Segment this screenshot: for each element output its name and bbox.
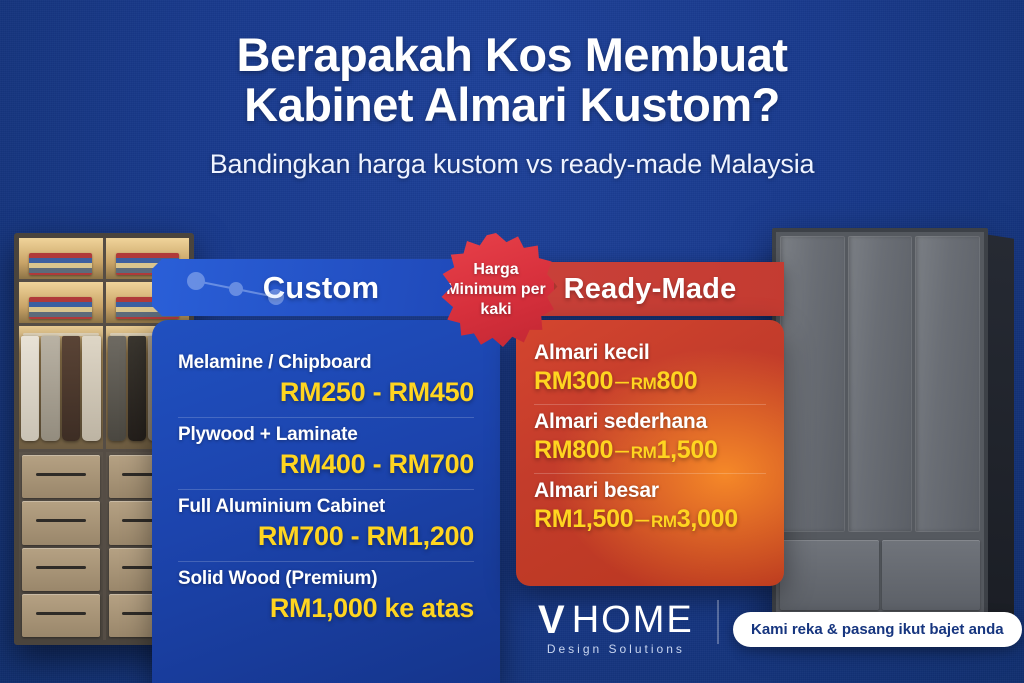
ready-made-item-label: Almari kecil <box>534 341 766 365</box>
wardrobe-bottom-drawers <box>776 536 984 614</box>
price-from: RM800 <box>534 436 613 464</box>
price-to: 800 <box>657 367 698 395</box>
price-dash: – <box>633 505 651 533</box>
network-nodes-icon <box>180 271 300 305</box>
page-subtitle: Bandingkan harga kustom vs ready-made Ma… <box>0 149 1024 180</box>
custom-item-price: RM1,000 ke atas <box>178 593 474 624</box>
ready-made-item-price: RM1,500–RM3,000 <box>534 505 766 534</box>
custom-item-price: RM250 - RM450 <box>178 377 474 408</box>
custom-item-price: RM400 - RM700 <box>178 449 474 480</box>
custom-price-panel: Melamine / Chipboard RM250 - RM450 Plywo… <box>152 320 500 683</box>
wardrobe-shelf <box>19 238 103 282</box>
price-currency: RM <box>631 374 657 393</box>
ready-made-price-row: Almari sederhana RM800–RM1,500 <box>534 405 766 474</box>
ready-made-wardrobe-photo <box>772 228 988 618</box>
header: Berapakah Kos Membuat Kabinet Almari Kus… <box>0 30 1024 180</box>
price-to: 3,000 <box>677 505 738 533</box>
wardrobe-side-panel <box>984 234 1014 623</box>
custom-item-label: Plywood + Laminate <box>178 424 474 446</box>
price-dash: – <box>613 367 631 395</box>
price-currency: RM <box>651 512 677 531</box>
wardrobe-front <box>772 228 988 618</box>
wardrobe-drawer <box>882 540 981 610</box>
price-from: RM1,500 <box>534 505 633 533</box>
custom-price-row: Melamine / Chipboard RM250 - RM450 <box>178 346 474 418</box>
wardrobe-doors <box>776 232 984 536</box>
ready-made-price-row: Almari besar RM1,500–RM3,000 <box>534 474 766 542</box>
logo-wordmark: V HOME <box>538 600 694 640</box>
page-title-line-2: Kabinet Almari Kustom? <box>0 80 1024 130</box>
price-currency: RM <box>631 443 657 462</box>
custom-price-row: Full Aluminium Cabinet RM700 - RM1,200 <box>178 490 474 562</box>
ready-made-item-label: Almari sederhana <box>534 410 766 434</box>
wardrobe-hanging-rail <box>19 326 103 452</box>
custom-price-row: Solid Wood (Premium) RM1,000 ke atas <box>178 562 474 633</box>
infographic-poster: Berapakah Kos Membuat Kabinet Almari Kus… <box>0 0 1024 683</box>
ready-made-column-header: Ready-Made <box>516 262 784 316</box>
badge-label: Harga Minimum per kaki <box>438 260 554 320</box>
ready-made-item-label: Almari besar <box>534 479 766 503</box>
ready-made-heading: Ready-Made <box>564 273 737 306</box>
custom-item-price: RM700 - RM1,200 <box>178 521 474 552</box>
custom-item-label: Solid Wood (Premium) <box>178 568 474 590</box>
logo-name: HOME <box>572 600 694 640</box>
price-to: 1,500 <box>657 436 718 464</box>
wardrobe-door <box>915 236 980 532</box>
custom-item-label: Full Aluminium Cabinet <box>178 496 474 518</box>
wardrobe-drawer <box>780 540 879 610</box>
wardrobe-door <box>780 236 845 532</box>
ready-made-item-price: RM800–RM1,500 <box>534 436 766 465</box>
custom-item-label: Melamine / Chipboard <box>178 352 474 374</box>
brand-logo: V HOME Design Solutions <box>538 600 694 656</box>
logo-v-mark: V <box>538 600 564 640</box>
promise-pill: Kami reka & pasang ikut bajet anda <box>733 612 1022 647</box>
wardrobe-drawer-stack <box>19 452 103 640</box>
wardrobe-door <box>848 236 913 532</box>
ready-made-item-price: RM300–RM800 <box>534 367 766 396</box>
logo-tagline: Design Solutions <box>547 642 685 656</box>
page-title-line-1: Berapakah Kos Membuat <box>0 30 1024 80</box>
wardrobe-column-left <box>19 238 106 640</box>
wardrobe-shelf <box>19 282 103 326</box>
price-dash: – <box>613 436 631 464</box>
custom-price-row: Plywood + Laminate RM400 - RM700 <box>178 418 474 490</box>
price-from: RM300 <box>534 367 613 395</box>
ready-made-price-panel: Almari kecil RM300–RM800 Almari sederhan… <box>516 320 784 586</box>
footer-divider <box>717 600 719 644</box>
ready-made-price-row: Almari kecil RM300–RM800 <box>534 336 766 405</box>
